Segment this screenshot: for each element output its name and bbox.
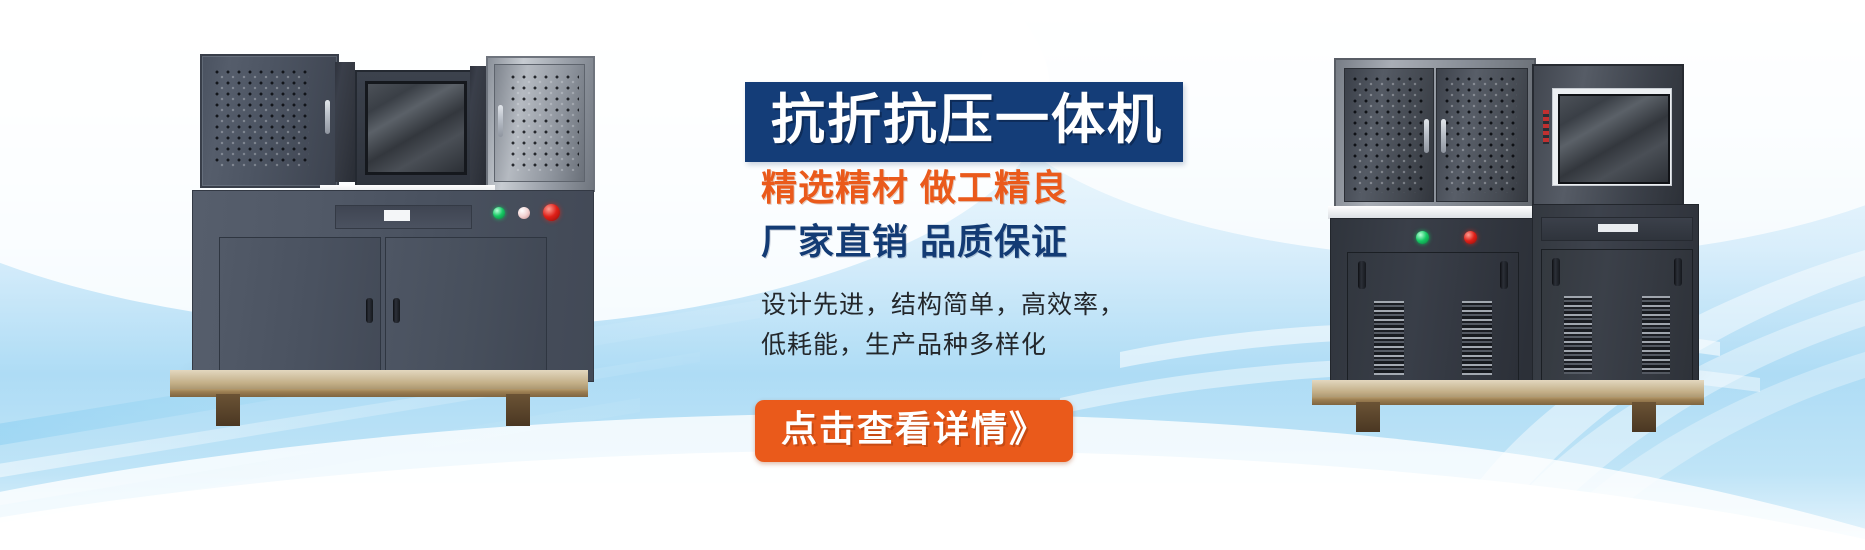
green-indicator-icon[interactable]: [493, 207, 505, 219]
display-screen: [1558, 94, 1670, 184]
door-handle: [366, 298, 373, 323]
door-handle: [393, 298, 400, 323]
lower-door-right[interactable]: [385, 237, 547, 381]
red-indicator-icon[interactable]: [1464, 231, 1477, 244]
perforated-panel-icon: [1445, 77, 1517, 193]
vent-louver-icon: [1374, 301, 1404, 375]
pallet-leg: [216, 394, 240, 426]
view-details-label: 点击查看详情》: [781, 408, 1047, 449]
page-title: 抗折抗压一体机: [771, 91, 1163, 149]
right-upper-cabinet: [486, 56, 595, 192]
pallet-leg: [1632, 402, 1656, 432]
label-plate: [1598, 224, 1638, 232]
pallet-leg: [506, 394, 530, 426]
monitor-bezel: [1552, 88, 1672, 186]
cabinet-handle: [1441, 119, 1446, 153]
right-upper-double-cabinet: [1334, 58, 1536, 212]
headline-band: 抗折抗压一体机: [745, 82, 1183, 162]
description-block: 设计先进，结构简单，高效率， 低耗能，生产品种多样化: [761, 285, 1125, 365]
main-cabinet-body: [192, 190, 594, 382]
cabinet-handle: [498, 105, 503, 137]
product-photo-left: [170, 40, 590, 430]
lower-door-left[interactable]: [219, 237, 381, 381]
door-handle: [1358, 261, 1366, 289]
perf-door-left[interactable]: [1344, 68, 1434, 202]
product-photo-right: [1320, 42, 1720, 432]
vented-door-left[interactable]: [1347, 252, 1519, 386]
monitor-housing: [355, 70, 474, 189]
vented-door-right[interactable]: [1541, 249, 1693, 387]
lower-body-left: [1330, 218, 1534, 390]
door-handle: [1552, 258, 1560, 286]
perf-door-right[interactable]: [1436, 68, 1528, 202]
view-details-button[interactable]: 点击查看详情》: [755, 400, 1073, 462]
tagline-secondary: 厂家直销 品质保证: [761, 222, 1068, 262]
control-recess: [335, 205, 472, 229]
control-recess: [1541, 217, 1693, 241]
perforated-panel-icon: [511, 75, 579, 171]
monitor-side: [470, 66, 486, 186]
perforated-panel-icon: [1353, 77, 1423, 193]
description-line-1: 设计先进，结构简单，高效率，: [761, 285, 1125, 325]
label-plate: [384, 210, 410, 221]
cabinet-handle: [325, 100, 330, 134]
display-screen: [365, 81, 467, 175]
vent-louver-icon: [1564, 296, 1592, 374]
left-cabinet-side: [335, 62, 355, 182]
white-indicator-icon[interactable]: [518, 207, 530, 219]
vent-louver-icon: [1462, 301, 1492, 375]
tagline-primary: 精选精材 做工精良: [761, 168, 1068, 208]
marketing-copy-column: 抗折抗压一体机 精选精材 做工精良 厂家直销 品质保证 设计先进，结构简单，高效…: [745, 0, 1305, 550]
door-handle: [1674, 258, 1682, 286]
monitor-housing: [1532, 64, 1684, 208]
status-led-strip-icon: [1543, 110, 1549, 144]
pallet-leg: [1356, 402, 1380, 432]
door-handle: [1500, 261, 1508, 289]
promo-banner: 抗折抗压一体机 精选精材 做工精良 厂家直销 品质保证 设计先进，结构简单，高效…: [0, 0, 1865, 550]
red-stop-button-icon[interactable]: [543, 204, 560, 221]
vent-louver-icon: [1642, 296, 1670, 374]
lower-body-right: [1532, 204, 1699, 390]
cabinet-handle: [1424, 119, 1429, 153]
perforated-panel-icon: [215, 70, 309, 168]
green-indicator-icon[interactable]: [1416, 231, 1429, 244]
left-upper-cabinet: [200, 54, 339, 188]
description-line-2: 低耗能，生产品种多样化: [761, 325, 1125, 365]
